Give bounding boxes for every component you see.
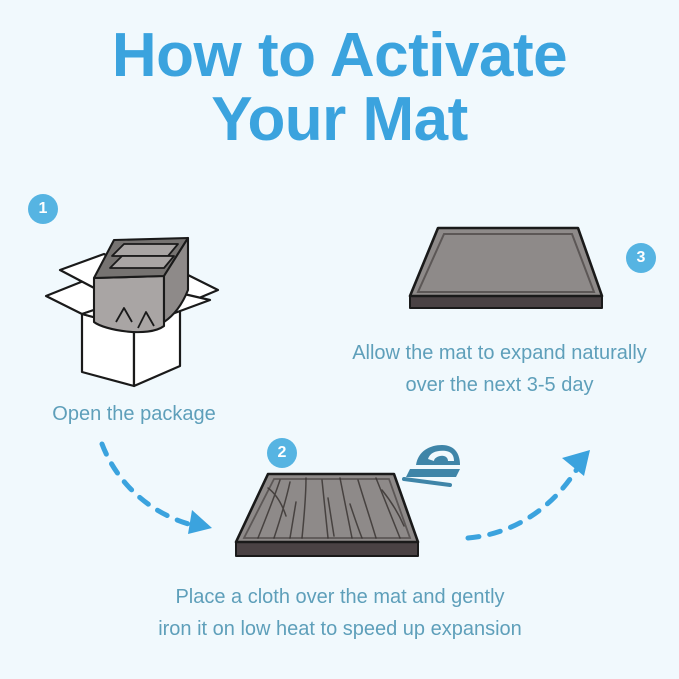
mat-with-cloth-icon xyxy=(232,468,426,573)
arrow-step1-to-step2-icon xyxy=(96,438,226,543)
page-title-line-1: How to Activate xyxy=(0,24,679,88)
expanded-mat-icon xyxy=(404,222,612,327)
open-box-svg xyxy=(38,218,230,390)
arrow-step2-to-step3-icon xyxy=(462,446,602,551)
expanded-mat-svg xyxy=(404,222,612,322)
arrow-right-svg xyxy=(462,446,602,546)
open-box-icon xyxy=(38,218,230,395)
step-2-caption: Place a cloth over the mat and gently ir… xyxy=(110,581,570,646)
step-1-caption: Open the package xyxy=(0,398,268,430)
page-title-line-2: Your Mat xyxy=(0,88,679,152)
infographic-canvas: How to Activate Your Mat 1 xyxy=(0,0,679,679)
step-badge-3: 3 xyxy=(626,243,656,273)
arrow-left-svg xyxy=(96,438,226,538)
step-3-caption: Allow the mat to expand naturally over t… xyxy=(320,337,679,402)
step-badge-2: 2 xyxy=(267,438,297,468)
page-title: How to Activate Your Mat xyxy=(0,24,679,152)
mat-with-cloth-svg xyxy=(232,468,426,568)
